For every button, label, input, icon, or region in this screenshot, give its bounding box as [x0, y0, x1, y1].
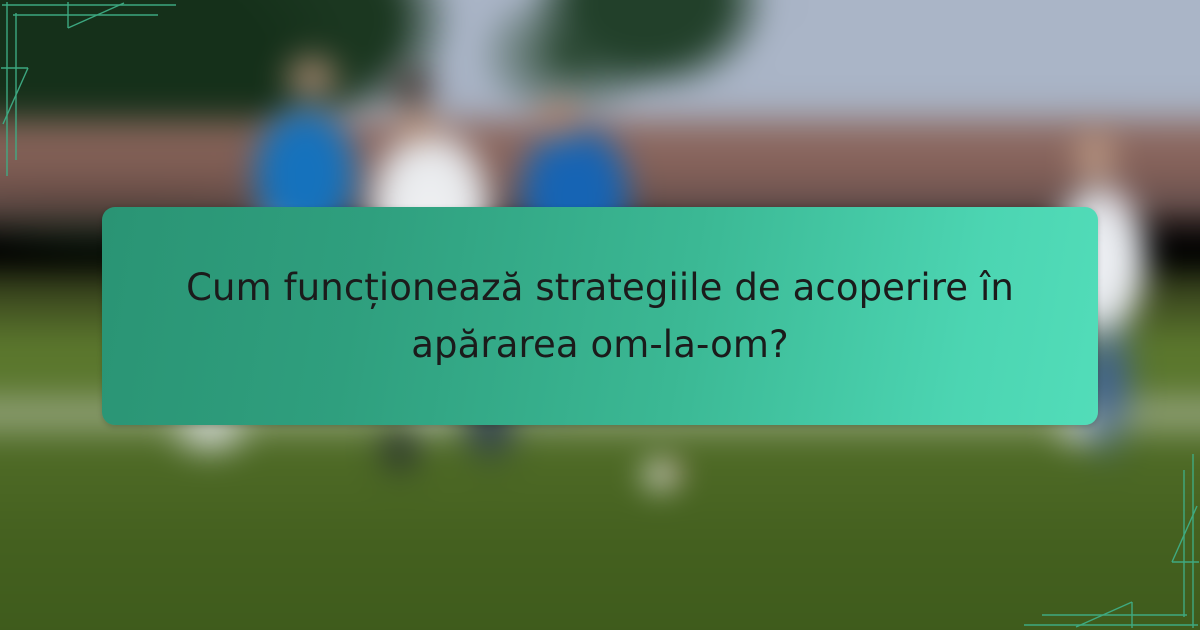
page-title: Cum funcționează strategiile de acoperir…: [102, 259, 1098, 373]
corner-decoration-bottom-right: [1000, 430, 1200, 630]
corner-decoration-top-left: [0, 0, 200, 200]
title-banner: Cum funcționează strategiile de acoperir…: [102, 207, 1098, 425]
social-card: Cum funcționează strategiile de acoperir…: [0, 0, 1200, 630]
